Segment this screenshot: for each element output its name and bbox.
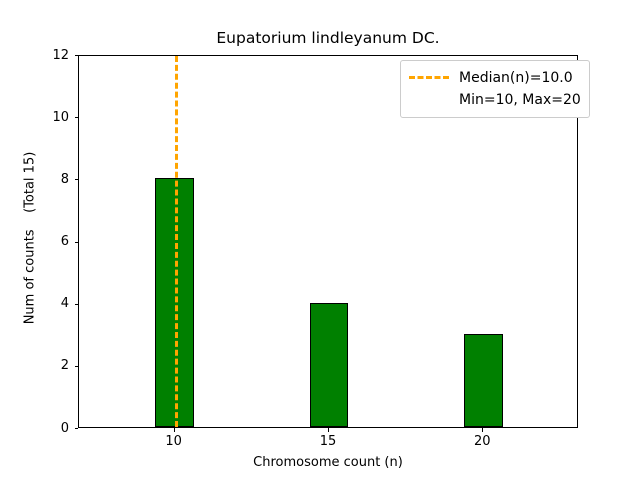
x-tick-mark	[174, 428, 175, 432]
bar	[310, 303, 349, 427]
y-tick-label: 8	[29, 173, 69, 186]
y-tick-mark	[75, 428, 79, 429]
y-tick-label: 6	[29, 235, 69, 248]
dashed-line-icon	[408, 71, 450, 85]
y-tick-label: 12	[29, 49, 69, 62]
chart-figure: Eupatorium lindleyanum DC. 024681012 101…	[0, 0, 640, 480]
legend-item-minmax: Min=10, Max=20	[408, 89, 581, 111]
y-tick-label: 0	[29, 422, 69, 435]
legend-label-minmax: Min=10, Max=20	[459, 92, 581, 108]
legend-label-median: Median(n)=10.0	[459, 70, 573, 86]
bar	[464, 334, 503, 427]
x-tick-label: 15	[303, 434, 353, 449]
chart-title: Eupatorium lindleyanum DC.	[78, 29, 578, 47]
legend-swatch-empty	[408, 93, 450, 107]
y-tick-label: 2	[29, 359, 69, 372]
y-tick-label: 10	[29, 111, 69, 124]
x-tick-mark	[482, 428, 483, 432]
x-tick-label: 10	[149, 434, 199, 449]
x-tick-mark	[328, 428, 329, 432]
legend: Median(n)=10.0 Min=10, Max=20	[400, 60, 590, 118]
median-line-icon	[175, 56, 178, 427]
x-axis-label: Chromosome count (n)	[78, 455, 578, 470]
x-tick-label: 20	[457, 434, 507, 449]
y-tick-label: 4	[29, 297, 69, 310]
legend-item-median: Median(n)=10.0	[408, 67, 581, 89]
